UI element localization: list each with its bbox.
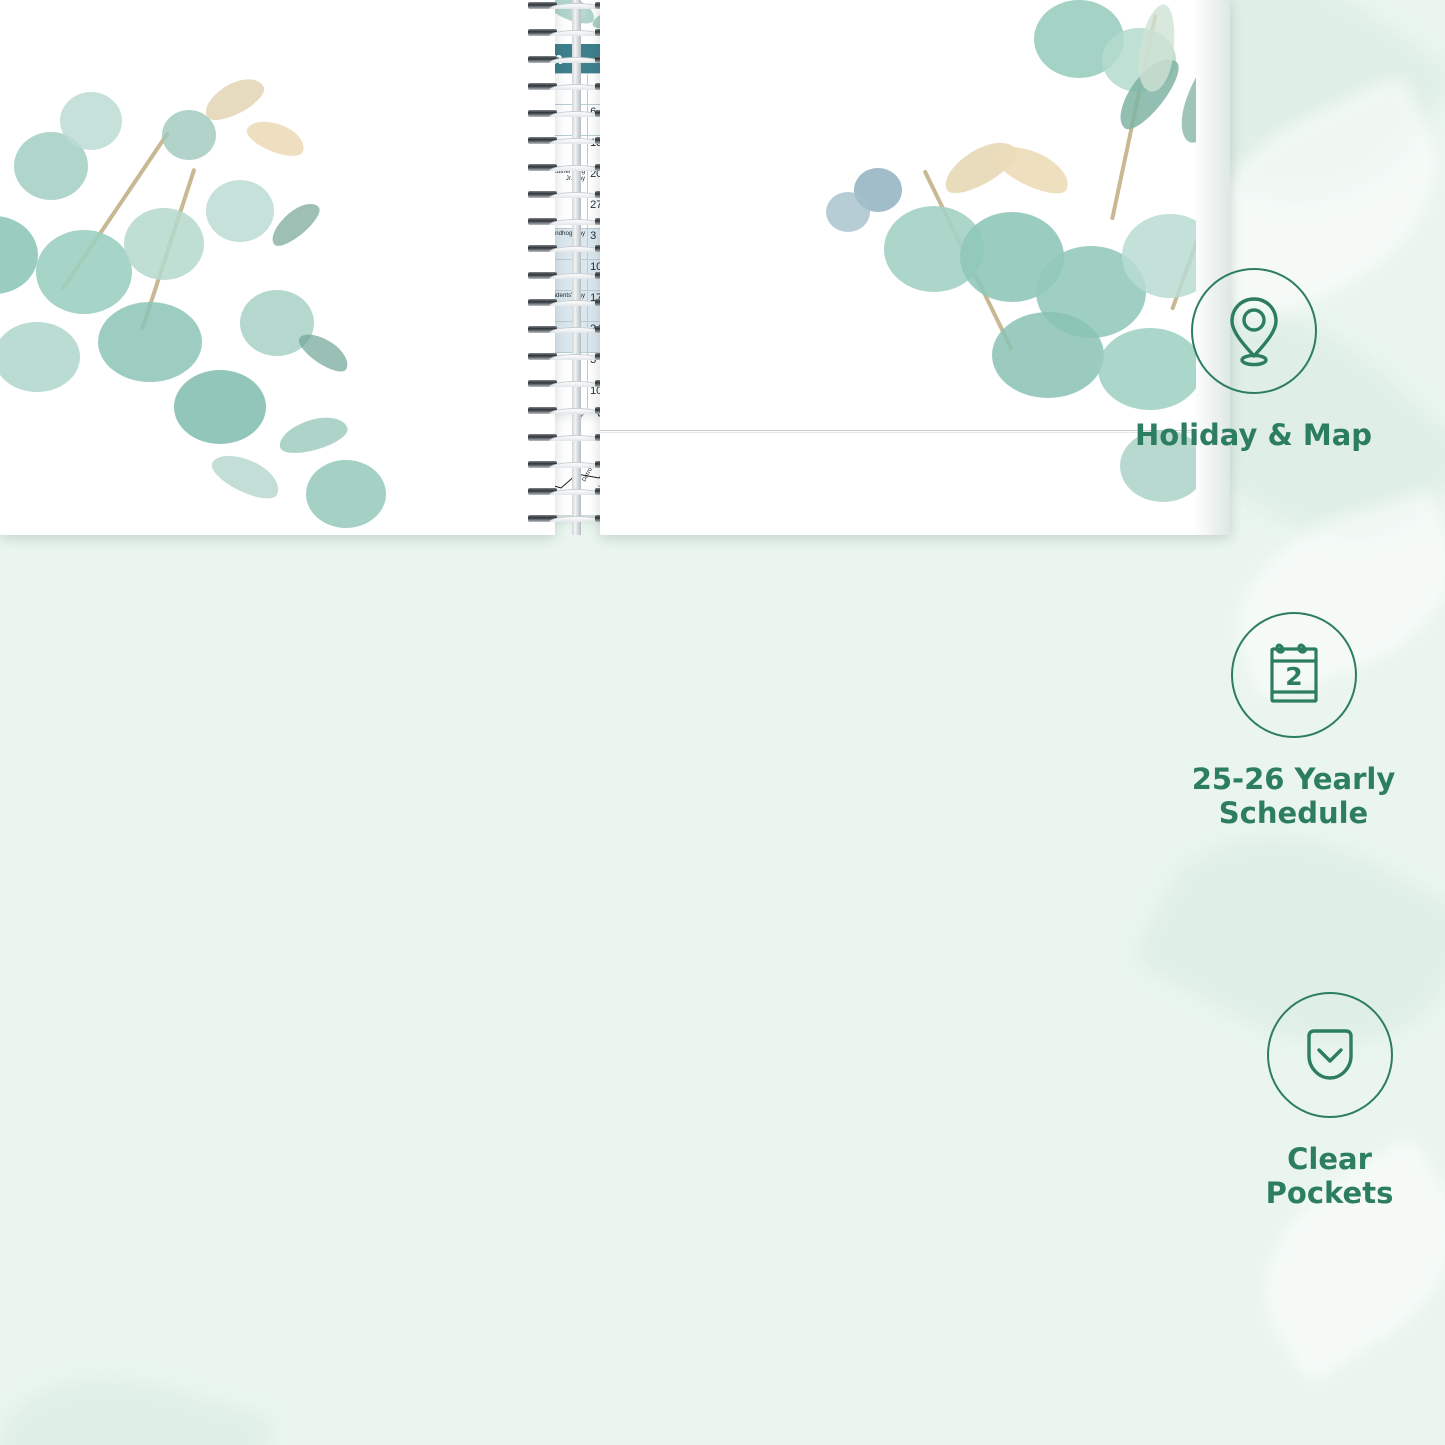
- calendar-icon: 2: [1231, 612, 1357, 738]
- feature-yearly-schedule: 2 25-26 Yearly Schedule: [1186, 612, 1401, 830]
- feature-label: Holiday & Map: [1135, 418, 1372, 452]
- pocket-icon: [1267, 992, 1393, 1118]
- map-pin-icon: [1191, 268, 1317, 394]
- feature-holiday-map: Holiday & Map: [1146, 268, 1361, 452]
- pocket-page-left: [0, 0, 555, 535]
- feature-label: Clear Pockets: [1222, 1142, 1437, 1210]
- feature-clear-pockets: Clear Pockets: [1222, 992, 1437, 1210]
- feature-label: 25-26 Yearly Schedule: [1186, 762, 1401, 830]
- calendar-badge-number: 2: [1285, 662, 1302, 691]
- pocket-page-right: [600, 0, 1230, 535]
